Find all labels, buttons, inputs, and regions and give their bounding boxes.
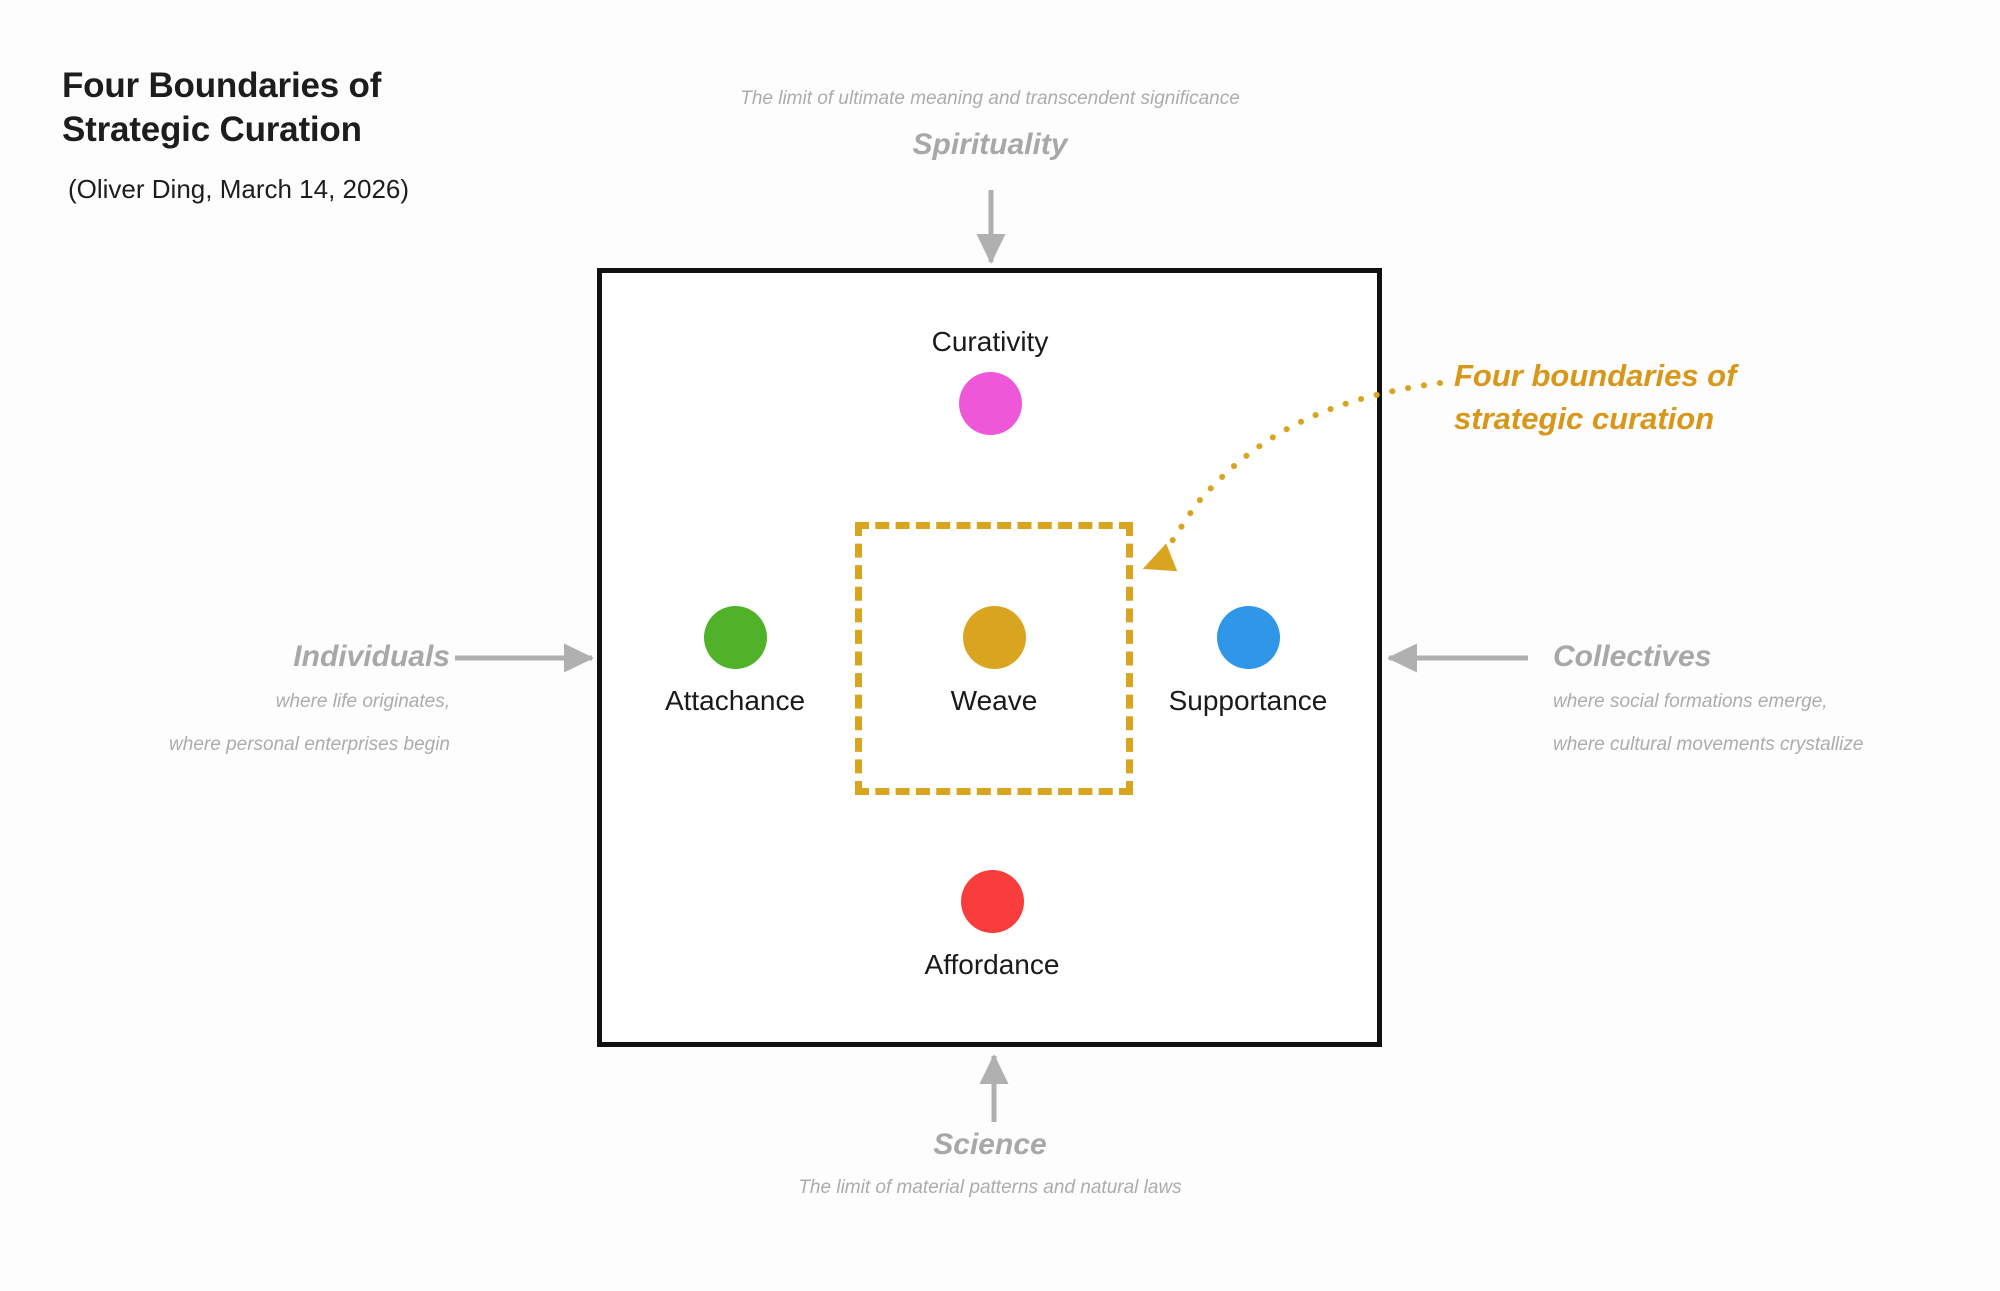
callout-line-1: Four boundaries of — [1454, 355, 1884, 398]
boundary-annotation-science: Science The limit of material patterns a… — [490, 1128, 1490, 1203]
node-supportance-label: Supportance — [1128, 685, 1368, 717]
individuals-description-line-1: where life originates, — [40, 688, 450, 717]
boundary-annotation-collectives: Collectives where social formations emer… — [1553, 640, 1973, 759]
spirituality-description: The limit of ultimate meaning and transc… — [490, 85, 1490, 114]
science-label: Science — [490, 1128, 1490, 1162]
collectives-description-line-1: where social formations emerge, — [1553, 688, 1973, 717]
collectives-label: Collectives — [1553, 640, 1973, 674]
individuals-label: Individuals — [40, 640, 450, 674]
node-affordance[interactable]: Affordance — [872, 870, 1112, 981]
node-curativity-label: Curativity — [870, 326, 1110, 358]
diagram-canvas: Four Boundaries of Strategic Curation (O… — [0, 0, 2000, 1291]
byline: (Oliver Ding, March 14, 2026) — [62, 174, 622, 205]
science-description: The limit of material patterns and natur… — [490, 1174, 1490, 1203]
spirituality-label: Spirituality — [490, 128, 1490, 162]
node-supportance[interactable]: Supportance — [1128, 606, 1368, 717]
boundary-annotation-individuals: Individuals where life originates, where… — [40, 640, 450, 759]
node-affordance-dot — [961, 870, 1024, 933]
node-attachance[interactable]: Attachance — [615, 606, 855, 717]
collectives-description-line-2: where cultural movements crystallize — [1553, 731, 1973, 760]
node-weave[interactable]: Weave — [874, 606, 1114, 717]
boundary-annotation-spirituality: The limit of ultimate meaning and transc… — [490, 85, 1490, 162]
node-attachance-label: Attachance — [615, 685, 855, 717]
callout-four-boundaries: Four boundaries of strategic curation — [1454, 355, 1884, 441]
node-attachance-dot — [704, 606, 767, 669]
node-curativity[interactable]: Curativity — [870, 326, 1110, 435]
node-supportance-dot — [1217, 606, 1280, 669]
node-weave-dot — [963, 606, 1026, 669]
callout-line-2: strategic curation — [1454, 398, 1884, 441]
node-affordance-label: Affordance — [872, 949, 1112, 981]
node-curativity-dot — [959, 372, 1022, 435]
node-weave-label: Weave — [874, 685, 1114, 717]
individuals-description-line-2: where personal enterprises begin — [40, 731, 450, 760]
